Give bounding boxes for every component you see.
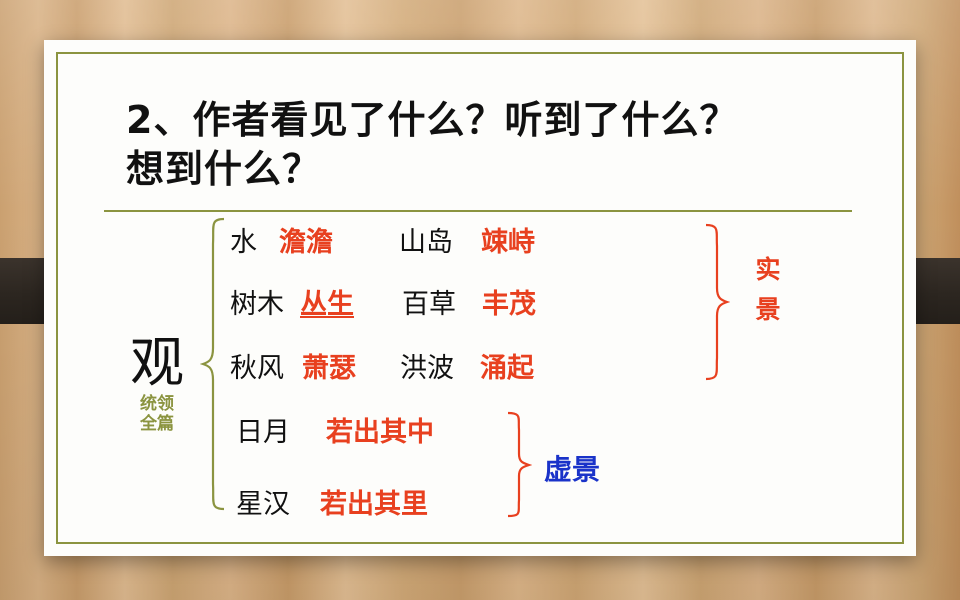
row-subject: 星汉 (236, 482, 290, 521)
keyword-note-line-1: 统领 (124, 394, 190, 414)
keyword-guan: 观 (130, 318, 184, 397)
table-row: 秋风 萧瑟 洪波 涌起 (230, 346, 534, 385)
slide-stage: 2、作者看见了什么？听到了什么？ 想到什么？ 观 统领 全篇 水 澹澹 山岛 竦… (0, 0, 960, 600)
table-row: 星汉 若出其里 (236, 482, 428, 521)
row-subject: 秋风 (230, 346, 284, 385)
row-subject-2: 山岛 (399, 220, 453, 259)
row-desc-2: 丰茂 (482, 282, 536, 321)
row-subject: 树木 (230, 282, 284, 321)
row-subject-2: 百草 (402, 282, 456, 321)
row-desc-2: 涌起 (480, 346, 534, 385)
page-title-line-2: 想到什么？ (126, 145, 866, 194)
group-label-real-line-2: 景 (744, 290, 792, 330)
table-row: 树木 丛生 百草 丰茂 (230, 282, 536, 321)
row-desc: 萧瑟 (302, 346, 356, 385)
page-title-line-1: 2、作者看见了什么？听到了什么？ (126, 96, 866, 145)
row-desc-2: 竦峙 (481, 220, 535, 259)
group-label-imagined: 虚景 (544, 448, 600, 488)
group-label-real: 实 景 (744, 250, 792, 330)
content-area: 观 统领 全篇 水 澹澹 山岛 竦峙 树木 丛生 百草 丰茂 秋风 萧瑟 洪波 (104, 214, 864, 534)
table-row: 水 澹澹 山岛 竦峙 (230, 220, 535, 259)
table-row: 日月 若出其中 (236, 410, 434, 449)
group-label-real-line-1: 实 (744, 250, 792, 290)
real-scene-brace-icon (704, 222, 730, 382)
page-title: 2、作者看见了什么？听到了什么？ 想到什么？ (126, 96, 866, 193)
row-subject-2: 洪波 (400, 346, 454, 385)
row-desc: 澹澹 (279, 220, 333, 259)
row-subject: 日月 (236, 410, 290, 449)
row-desc: 丛生 (300, 282, 354, 321)
row-desc: 若出其里 (320, 482, 428, 521)
row-desc: 若出其中 (326, 410, 434, 449)
row-subject: 水 (230, 220, 257, 259)
left-brace-icon (200, 216, 226, 512)
keyword-note: 统领 全篇 (124, 394, 190, 434)
title-divider (104, 210, 852, 212)
imagined-scene-brace-icon (506, 410, 532, 520)
keyword-note-line-2: 全篇 (124, 414, 190, 434)
